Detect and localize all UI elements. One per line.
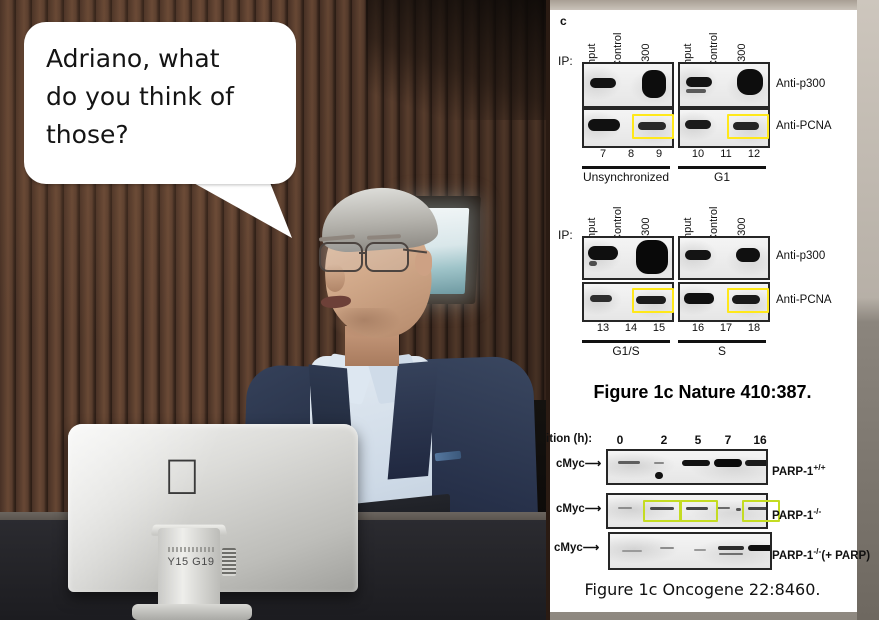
blot-g1-antip300	[678, 62, 770, 108]
band	[588, 119, 620, 131]
band	[686, 77, 712, 87]
arrow-icon: ⟶	[585, 503, 602, 515]
group-underline	[582, 166, 670, 169]
band	[622, 550, 642, 552]
parp-row-label-3: PARP-1-/-(+ PARP)	[772, 546, 870, 562]
lane-number: 13	[591, 322, 615, 334]
group-label-unsynchronized: Unsynchronized	[572, 170, 680, 184]
caption-oncogene: Figure 1c Oncogene 22:8460.	[546, 580, 859, 599]
blot-unsync-antip300	[582, 62, 674, 108]
band	[748, 545, 772, 551]
speech-bubble-text: Adriano, what do you think of those?	[46, 40, 278, 154]
antibody-label-p300-bottom: Anti-p300	[776, 250, 825, 262]
arrow-icon: ⟶	[585, 458, 602, 470]
arrow-icon: ⟶	[583, 542, 600, 554]
band	[685, 250, 711, 260]
ceiling-shadow	[366, 0, 546, 120]
group-label-g1s: G1/S	[582, 344, 670, 358]
ear	[415, 250, 432, 276]
antibody-label-p300-top: Anti-p300	[776, 78, 825, 90]
glasses-lens-right	[365, 242, 409, 272]
highlight-box-lane15	[632, 288, 674, 313]
speech-line-3: those?	[46, 116, 278, 154]
cmyc-label: cMyc	[556, 503, 585, 515]
ip-label-bottom: IP:	[558, 228, 573, 242]
parp-base-3: PARP-1	[772, 550, 813, 562]
imac-stand	[158, 528, 220, 612]
parp-highlight-box-1	[643, 500, 681, 522]
lane-number: 17	[714, 322, 738, 334]
ip-label-top: IP:	[558, 54, 573, 68]
band	[588, 246, 618, 260]
group-underline	[678, 166, 766, 169]
band	[737, 69, 763, 95]
nose	[325, 264, 345, 292]
cmyc-label: cMyc	[556, 458, 585, 470]
cmyc-marker-row3: cMyc⟶	[554, 540, 599, 554]
band	[618, 507, 632, 509]
group-label-s: S	[678, 344, 766, 358]
blot-background	[608, 451, 766, 483]
highlight-box-lane12	[727, 114, 769, 139]
lane-number: 16	[686, 322, 710, 334]
band	[718, 546, 744, 550]
figure-left-edge	[546, 0, 550, 620]
speech-bubble: Adriano, what do you think of those?	[24, 22, 296, 234]
band	[685, 120, 711, 129]
band	[654, 462, 664, 464]
band	[682, 460, 710, 466]
band	[618, 461, 640, 464]
blot-g1s-antip300	[582, 236, 674, 280]
band	[694, 549, 706, 551]
band	[714, 459, 742, 467]
imac-asset-tag: Y15 G19	[156, 556, 226, 568]
group-underline	[678, 340, 766, 343]
band	[636, 240, 668, 274]
lane-number: 14	[619, 322, 643, 334]
parp-timepoint: 0	[610, 433, 630, 447]
parp-sup-2: -/-	[813, 506, 821, 516]
panel-letter-c: c	[560, 14, 567, 28]
parp-suffix-3: (+ PARP)	[821, 550, 870, 562]
parp-timepoint: 7	[718, 433, 738, 447]
lane-number: 15	[647, 322, 671, 334]
band	[684, 293, 714, 304]
caption-nature: Figure 1c Nature 410:387.	[546, 382, 859, 403]
parp-row-label-2: PARP-1-/-	[772, 506, 821, 522]
highlight-box-lane9	[632, 114, 674, 139]
glasses-bridge	[359, 252, 367, 254]
band	[660, 547, 674, 549]
speech-line-2: do you think of	[46, 78, 278, 116]
group-underline	[582, 340, 670, 343]
band	[590, 78, 616, 88]
group-label-g1: G1	[678, 170, 766, 184]
band	[655, 472, 663, 479]
lane-number: 9	[647, 148, 671, 160]
lane-number: 11	[714, 148, 738, 160]
cmyc-marker-row1: cMyc⟶	[556, 456, 601, 470]
parp-sup-1: +/+	[813, 462, 825, 472]
figure-right-strip	[857, 0, 879, 620]
parp-row-label-1: PARP-1+/+	[772, 462, 826, 478]
lane-number: 18	[742, 322, 766, 334]
band	[686, 89, 706, 93]
parp-timepoint: 5	[688, 433, 708, 447]
lane-number: 7	[591, 148, 615, 160]
parp-highlight-box-2	[680, 500, 718, 522]
blot-s-antip300	[678, 236, 770, 280]
band	[719, 553, 743, 555]
band	[716, 507, 730, 509]
highlight-box-lane18	[727, 288, 769, 313]
lane-number: 8	[619, 148, 643, 160]
imac-foot	[132, 604, 252, 620]
parp-timepoint: 16	[750, 433, 770, 447]
speech-line-1: Adriano, what	[46, 40, 278, 78]
band	[736, 248, 760, 262]
parp-timepoint: 2	[654, 433, 674, 447]
band	[736, 508, 741, 511]
lane-number: 10	[686, 148, 710, 160]
chin-shadow	[327, 308, 401, 338]
parp-blot-row1	[606, 449, 768, 485]
lane-number: 12	[742, 148, 766, 160]
parp-blot-row3	[608, 532, 772, 570]
band	[590, 295, 612, 302]
parp-base-2: PARP-1	[772, 510, 813, 522]
parp-base-1: PARP-1	[772, 466, 813, 478]
cmyc-label: cMyc	[554, 542, 583, 554]
antibody-label-pcna-top: Anti-PCNA	[776, 120, 832, 132]
figure-panel: c IP: Input Control p300 Input Control p…	[546, 0, 879, 620]
antibody-label-pcna-bottom: Anti-PCNA	[776, 294, 832, 306]
apple-logo-icon: 	[160, 452, 204, 504]
cmyc-marker-row2: cMyc⟶	[556, 501, 601, 515]
band	[589, 261, 597, 266]
band	[642, 70, 666, 98]
slide-root:  Y15 G19 Adriano, what do you think of …	[0, 0, 879, 620]
stand-barcode	[168, 547, 214, 552]
band	[745, 460, 768, 466]
parp-header-label: ddition (h):	[546, 433, 592, 445]
